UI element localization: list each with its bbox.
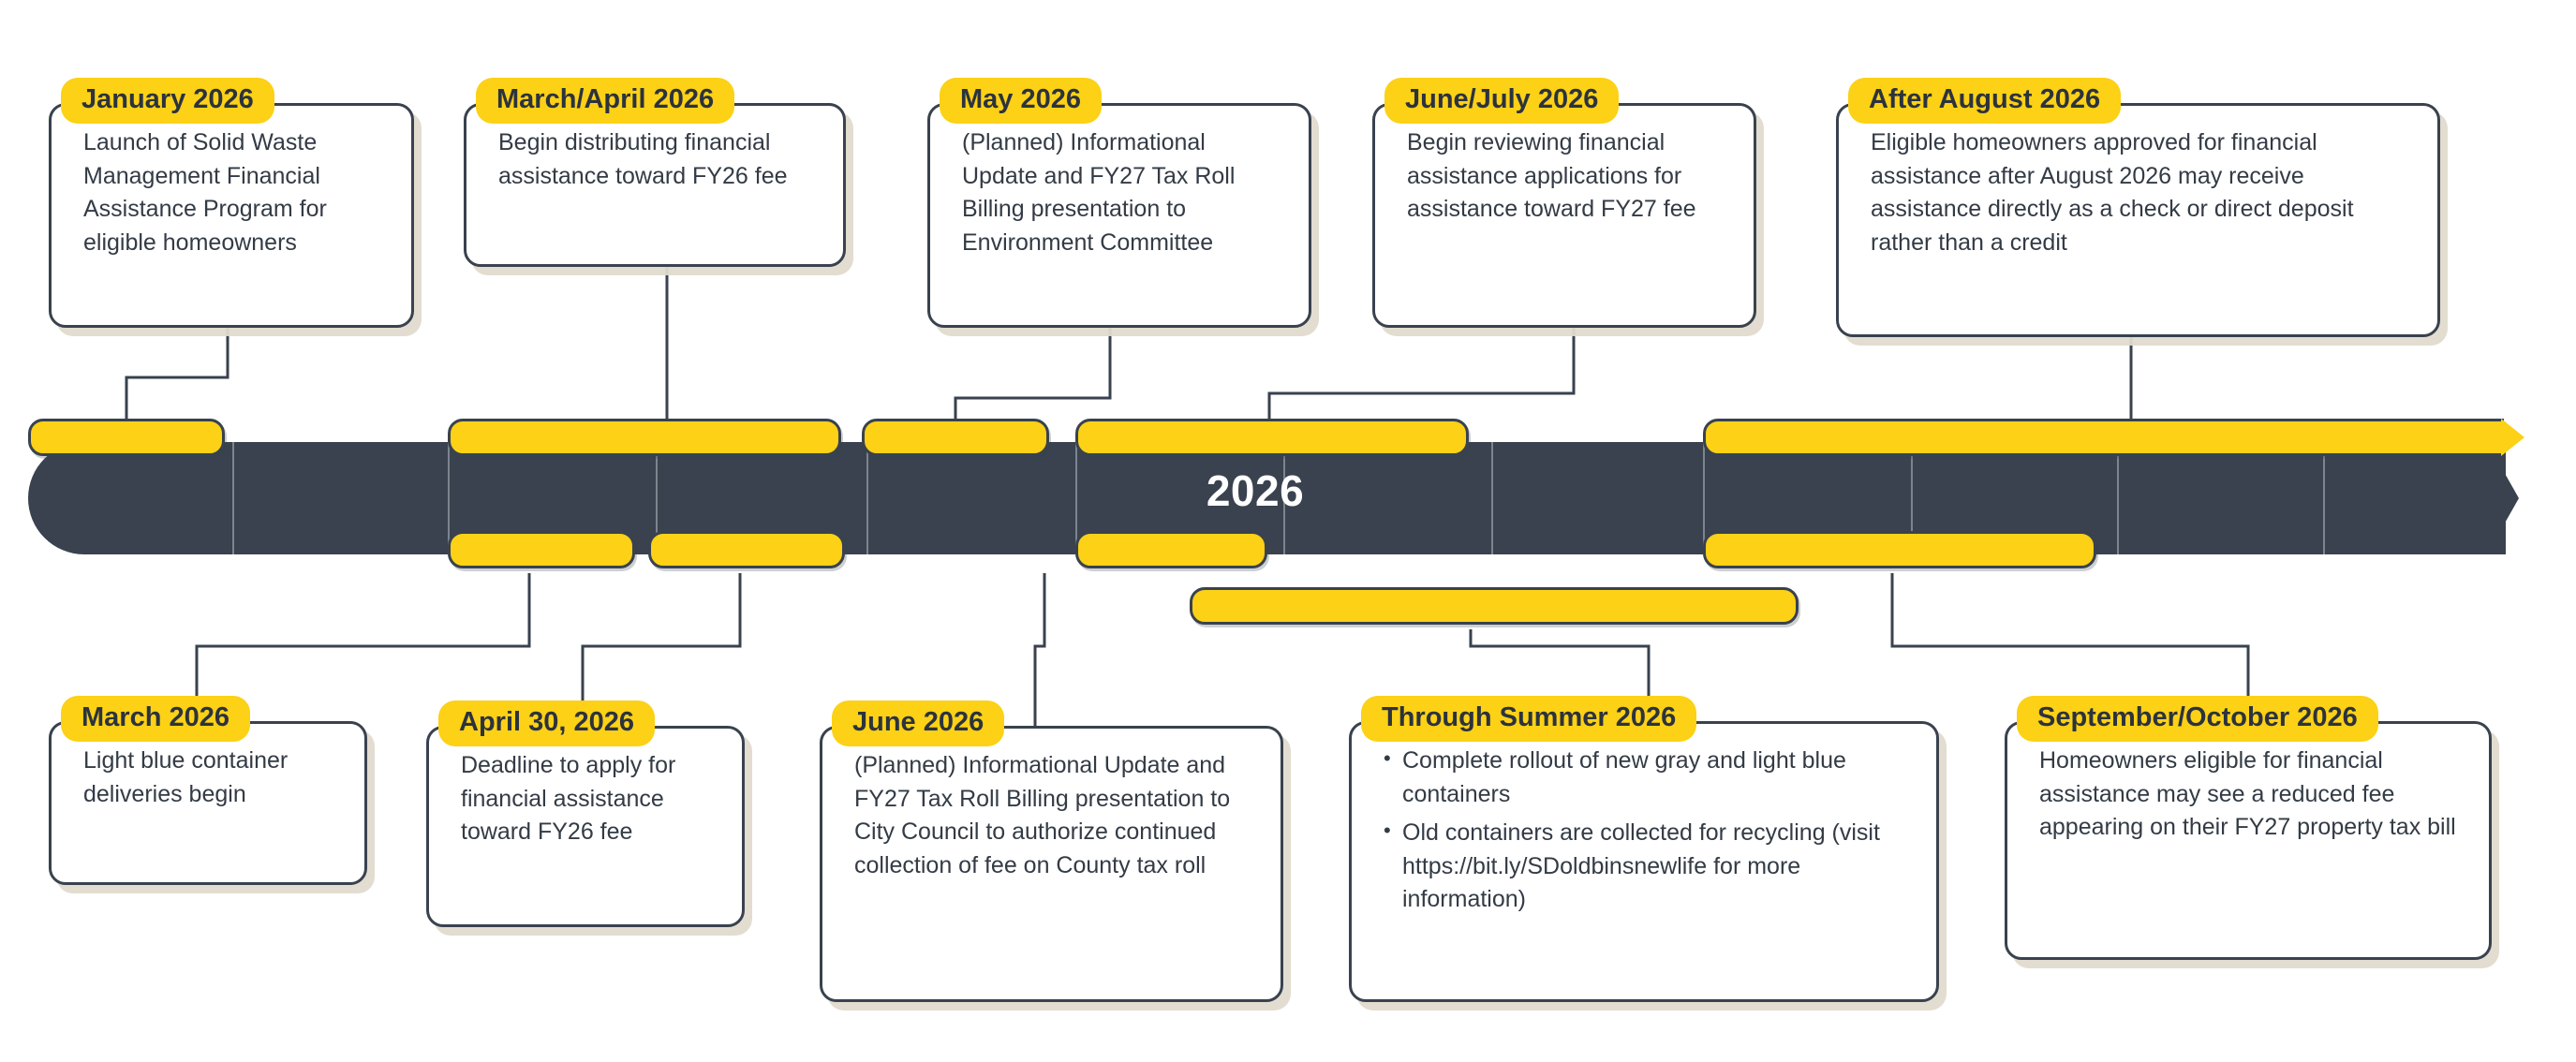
event-card-text: (Planned) Informational Update and FY27 … <box>962 126 1284 259</box>
event-card-label: June/July 2026 <box>1384 78 1619 124</box>
timeline-marker-april-30[interactable] <box>648 531 845 568</box>
event-card-label: May 2026 <box>940 78 1102 124</box>
timeline-tick <box>866 442 868 554</box>
event-card-label: March/April 2026 <box>476 78 734 124</box>
timeline-marker-june-july[interactable] <box>1075 419 1469 456</box>
event-card-text: Launch of Solid Waste Management Financi… <box>83 126 387 259</box>
timeline-marker-after-august[interactable] <box>1703 419 2504 456</box>
timeline-year-label: 2026 <box>1152 465 1358 516</box>
event-card-text: Deadline to apply for financial assistan… <box>461 749 718 849</box>
timeline-tick <box>1491 442 1493 554</box>
event-card-label: September/October 2026 <box>2017 696 2378 742</box>
timeline-infographic: 2026 January 2026 Launch of Solid Waste … <box>0 0 2576 1062</box>
event-card-march-april[interactable]: March/April 2026 Begin distributing fina… <box>464 103 846 267</box>
event-card-june[interactable]: June 2026 (Planned) Informational Update… <box>820 726 1283 1002</box>
event-card-march[interactable]: March 2026 Light blue container deliveri… <box>49 721 367 885</box>
timeline-tick <box>232 442 234 554</box>
timeline-tick <box>2117 442 2119 554</box>
event-card-through-summer[interactable]: Through Summer 2026 Complete rollout of … <box>1349 721 1939 1002</box>
event-card-bullet: Complete rollout of new gray and light b… <box>1384 745 1912 811</box>
timeline-marker-march-april[interactable] <box>448 419 841 456</box>
timeline-marker-march[interactable] <box>448 531 635 568</box>
timeline-marker-june[interactable] <box>1075 531 1267 568</box>
event-card-text: Begin reviewing financial assistance app… <box>1407 126 1729 227</box>
event-card-body: Complete rollout of new gray and light b… <box>1352 724 1936 936</box>
event-card-text: Homeowners eligible for financial assist… <box>2039 745 2465 845</box>
event-card-text: Eligible homeowners approved for financi… <box>1871 126 2413 259</box>
timeline-tick <box>2323 442 2325 554</box>
event-card-bullet: Old containers are collected for recycli… <box>1384 817 1912 917</box>
event-card-label: March 2026 <box>61 696 250 742</box>
event-card-text: Light blue container deliveries begin <box>83 745 340 811</box>
event-card-bullet-list: Complete rollout of new gray and light b… <box>1384 745 1912 917</box>
event-card-label: After August 2026 <box>1848 78 2121 124</box>
timeline-marker-september-october[interactable] <box>1703 531 2096 568</box>
timeline-marker-through-summer[interactable] <box>1190 587 1799 625</box>
event-card-body: Deadline to apply for financial assistan… <box>429 729 742 868</box>
event-card-body: (Planned) Informational Update and FY27 … <box>822 729 1281 901</box>
event-card-text: Begin distributing financial assistance … <box>498 126 819 193</box>
event-card-may[interactable]: May 2026 (Planned) Informational Update … <box>927 103 1311 328</box>
timeline-marker-january[interactable] <box>28 419 225 456</box>
timeline-marker-may[interactable] <box>862 419 1049 456</box>
event-card-body: Homeowners eligible for financial assist… <box>2007 724 2489 863</box>
event-card-september-october[interactable]: September/October 2026 Homeowners eligib… <box>2005 721 2492 960</box>
event-card-april-30[interactable]: April 30, 2026 Deadline to apply for fin… <box>426 726 745 927</box>
event-card-after-august[interactable]: After August 2026 Eligible homeowners ap… <box>1836 103 2440 337</box>
event-card-body: Eligible homeowners approved for financi… <box>1839 106 2437 278</box>
event-card-body: Launch of Solid Waste Management Financi… <box>52 106 411 278</box>
event-card-label: June 2026 <box>832 701 1004 746</box>
event-card-body: (Planned) Informational Update and FY27 … <box>930 106 1309 278</box>
event-card-label: January 2026 <box>61 78 274 124</box>
timeline-bar-arrow-tip <box>2487 442 2519 554</box>
event-card-january[interactable]: January 2026 Launch of Solid Waste Manag… <box>49 103 414 328</box>
event-card-body: Begin reviewing financial assistance app… <box>1375 106 1754 245</box>
event-card-text: (Planned) Informational Update and FY27 … <box>854 749 1256 882</box>
event-card-label: Through Summer 2026 <box>1361 696 1696 742</box>
event-card-june-july[interactable]: June/July 2026 Begin reviewing financial… <box>1372 103 1756 328</box>
event-card-label: April 30, 2026 <box>438 701 655 746</box>
